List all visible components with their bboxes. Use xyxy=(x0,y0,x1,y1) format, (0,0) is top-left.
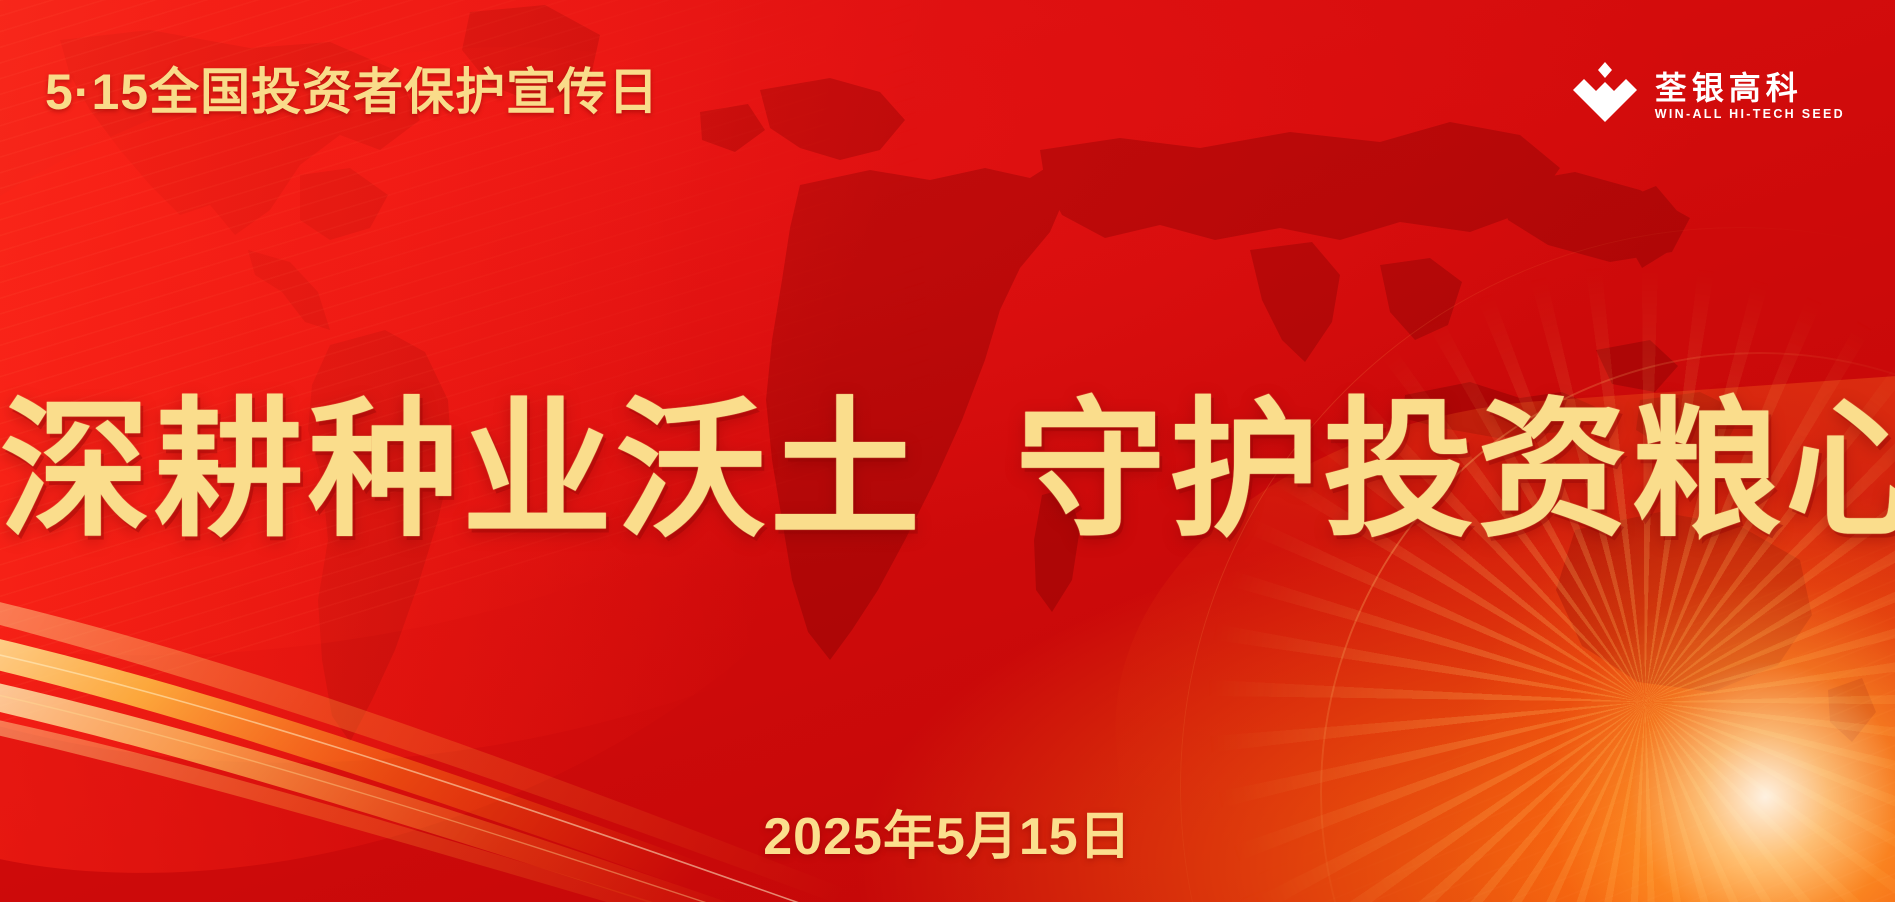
double-chevron-diamond-icon xyxy=(1570,60,1640,132)
investor-protection-day-poster: 5·15全国投资者保护宣传日 荃银高科 WIN-ALL HI-TECH SEED… xyxy=(0,0,1895,902)
logo-company-en: WIN-ALL HI-TECH SEED xyxy=(1655,108,1845,121)
logo-company-cn: 荃银高科 xyxy=(1655,72,1845,106)
event-date: 2025年5月15日 xyxy=(0,794,1895,869)
header-slogan: 5·15全国投资者保护宣传日 xyxy=(45,52,659,124)
company-logo[interactable]: 荃银高科 WIN-ALL HI-TECH SEED xyxy=(1570,60,1845,132)
main-title-text: 深耕种业沃土 守护投资粮心 xyxy=(0,386,1895,554)
logo-text-block: 荃银高科 WIN-ALL HI-TECH SEED xyxy=(1655,72,1845,120)
main-title: 深耕种业沃土 守护投资粮心 xyxy=(0,386,1895,554)
